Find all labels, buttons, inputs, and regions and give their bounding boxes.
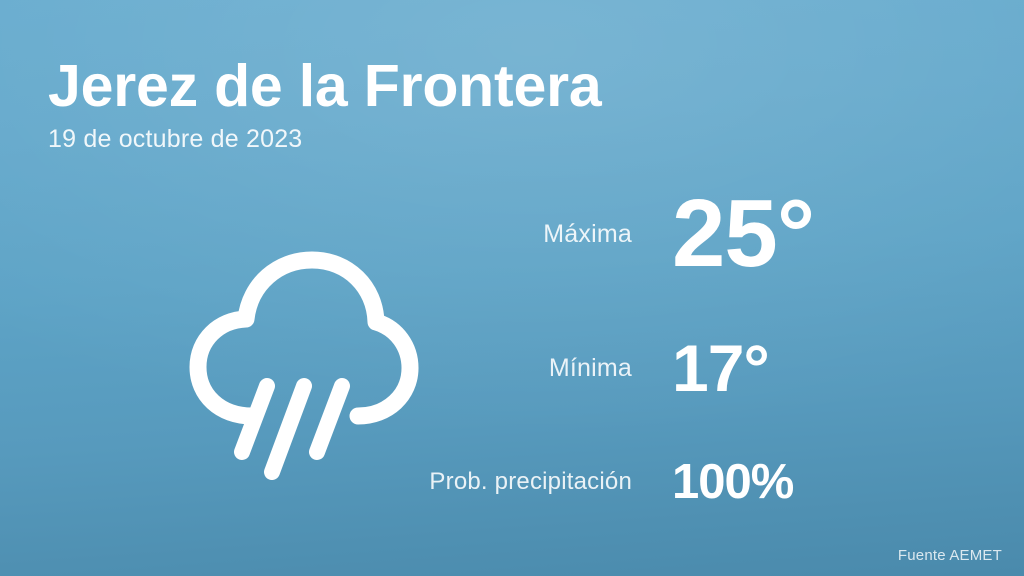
precipitacion-value: 100% xyxy=(672,458,793,507)
forecast-date: 19 de octubre de 2023 xyxy=(48,126,748,154)
page-title: Jerez de la Frontera xyxy=(48,56,748,116)
minima-value: 17° xyxy=(672,335,769,401)
reading-row-precipitacion: Prob. precipitación 100% xyxy=(400,436,960,528)
header: Jerez de la Frontera 19 de octubre de 20… xyxy=(48,56,748,154)
weather-card: Jerez de la Frontera 19 de octubre de 20… xyxy=(0,0,1024,576)
minima-label: Mínima xyxy=(400,354,672,383)
maxima-value: 25° xyxy=(672,186,814,282)
reading-row-maxima: Máxima 25° xyxy=(400,168,960,300)
readings-panel: Máxima 25° Mínima 17° Prob. precipitació… xyxy=(400,168,960,528)
weather-icon xyxy=(170,240,420,480)
source-attribution: Fuente AEMET xyxy=(898,547,1002,564)
precipitacion-label: Prob. precipitación xyxy=(400,468,672,496)
reading-row-minima: Mínima 17° xyxy=(400,300,960,436)
cloud-heavy-rain-icon xyxy=(170,240,420,480)
maxima-label: Máxima xyxy=(400,220,672,249)
